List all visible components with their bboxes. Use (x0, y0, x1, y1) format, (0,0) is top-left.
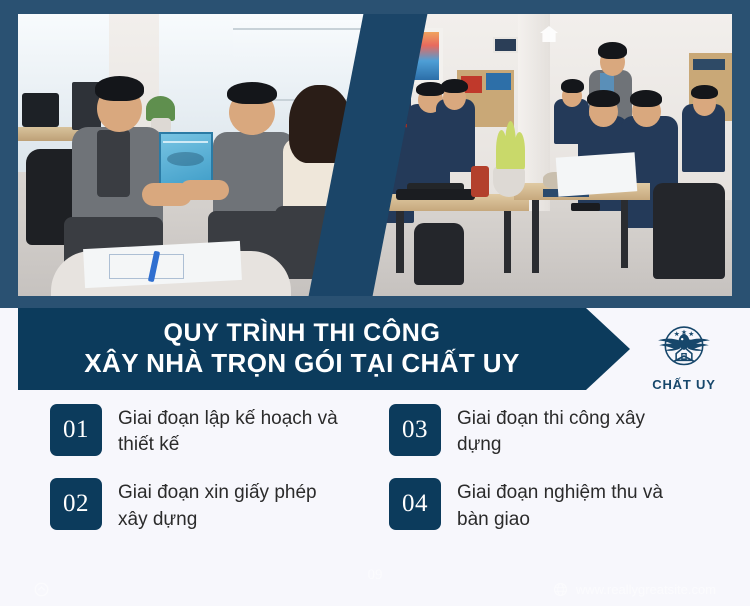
logo-watermark-icon (34, 582, 49, 597)
footer-mark-left (34, 582, 49, 597)
step-label: Giai đoạn lập kế hoạch và thiết kế (118, 404, 348, 458)
page-number-watermark: 09 (0, 567, 750, 584)
step-item-04: 04 Giai đoạn nghiệm thu và bàn giao (389, 478, 728, 532)
step-number-badge: 02 (50, 478, 102, 530)
step-item-02: 02 Giai đoạn xin giấy phép xây dựng (50, 478, 389, 532)
process-steps-grid: 01 Giai đoạn lập kế hoạch và thiết kế 03… (0, 404, 750, 533)
photo-inner-frame (18, 14, 732, 296)
logo-brand-text: CHẤT UY (652, 377, 715, 392)
step-item-01: 01 Giai đoạn lập kế hoạch và thiết kế (50, 404, 389, 458)
step-item-03: 03 Giai đoạn thi công xây dựng (389, 404, 728, 458)
footer-website: www.reallygreatsite.com (553, 582, 716, 597)
footer-website-text: www.reallygreatsite.com (576, 582, 716, 597)
globe-icon (553, 582, 568, 597)
banner-title-line-1: QUY TRÌNH THI CÔNG (163, 319, 440, 349)
step-label: Giai đoạn thi công xây dựng (457, 404, 687, 458)
step-number-badge: 04 (389, 478, 441, 530)
title-banner: QUY TRÌNH THI CÔNG XÂY NHÀ TRỌN GÓI TẠI … (18, 308, 630, 390)
footer-watermark: www.reallygreatsite.com (0, 572, 750, 606)
brand-logo: CHẤT UY (624, 312, 744, 398)
step-number-badge: 03 (389, 404, 441, 456)
step-label: Giai đoạn nghiệm thu và bàn giao (457, 478, 687, 532)
photo-band (0, 0, 750, 308)
open-plan-office-photo (375, 14, 732, 296)
step-label: Giai đoạn xin giấy phép xây dựng (118, 478, 348, 532)
banner-title-line-2: XÂY NHÀ TRỌN GÓI TẠI CHẤT UY (84, 348, 519, 379)
step-number-badge: 01 (50, 404, 102, 456)
poster: QUY TRÌNH THI CÔNG XÂY NHÀ TRỌN GÓI TẠI … (0, 0, 750, 600)
eagle-house-emblem-icon (653, 318, 715, 376)
house-watermark-icon (539, 25, 559, 47)
